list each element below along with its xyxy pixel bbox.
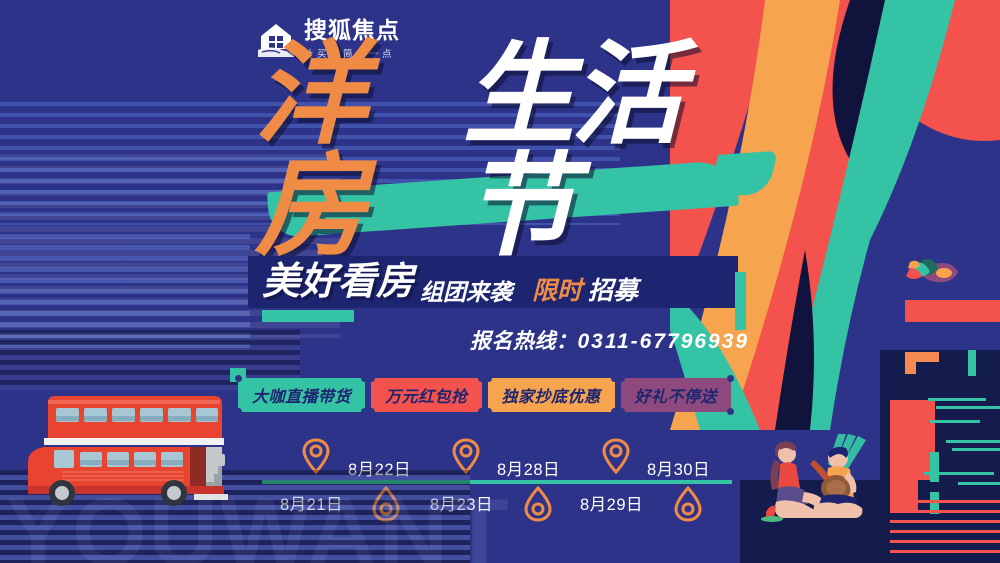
deco-teal-line-3 [930, 420, 980, 423]
bird-icon [900, 250, 962, 292]
hotline-text: 报名热线：0311-67796939 [470, 325, 749, 355]
deco-teal-tick-2 [930, 452, 939, 482]
page-title: 洋房 生活节 [255, 78, 775, 223]
deco-teal-line-5 [952, 448, 1000, 451]
deco-coral-block-tall [890, 400, 918, 510]
feature-tag[interactable]: 好礼不停送 [621, 378, 732, 412]
subtitle-orange: 限时 [532, 279, 582, 308]
feature-tag-label: 万元红包抢 [385, 383, 468, 407]
droplet-pin-icon [674, 486, 702, 522]
timeline-date-top: 8月30日 [647, 456, 710, 480]
timeline-date-bottom: 8月29日 [580, 491, 643, 515]
feature-tag[interactable]: 独家抄底优惠 [488, 378, 615, 412]
title-part-orange: 洋房 [255, 39, 463, 263]
deco-coral-line-2 [890, 510, 1000, 513]
deco-teal-line-2 [936, 406, 1000, 409]
subtitle-mid: 组团来袭 [420, 281, 512, 308]
bg-stripes-midband [0, 228, 250, 348]
deco-coral-line-5 [890, 540, 1000, 543]
deco-coral-line-4 [890, 530, 1000, 533]
seated-people-icon [752, 432, 887, 542]
deco-teal-line-4 [946, 440, 1000, 443]
deco-teal-line-7 [958, 482, 1000, 485]
feature-tag[interactable]: 万元红包抢 [371, 378, 482, 412]
deco-coral-line-3 [890, 520, 1000, 523]
hotline-label: 报名热线： [470, 330, 578, 353]
feature-tag-row: 大咖直播带货 万元红包抢 独家抄底优惠 好礼不停送 [238, 378, 737, 412]
deco-teal-line-6 [924, 472, 994, 475]
timeline-date-top: 8月22日 [348, 456, 411, 480]
subtitle-teal-rightbar [735, 272, 746, 330]
feature-tag-label: 大咖直播带货 [252, 383, 351, 407]
deco-coral-line-1 [890, 500, 1000, 503]
location-pin-icon [302, 438, 330, 474]
subtitle-white: 招募 [588, 279, 638, 308]
deco-orange-tee-v [905, 352, 916, 374]
deco-coral-line-6 [890, 550, 1000, 553]
promo-poster: 搜狐焦点 让买房简单一点 洋房 生活节 美好看房 组团来袭 限时 招募 报名热线… [0, 0, 1000, 563]
location-pin-icon [602, 438, 630, 474]
feature-tag[interactable]: 大咖直播带货 [238, 378, 365, 412]
timeline-date-top: 8月28日 [497, 456, 560, 480]
subtitle-big: 美好看房 [262, 263, 414, 301]
deco-teal-tick-1 [968, 350, 976, 376]
droplet-pin-icon [524, 486, 552, 522]
double-decker-bus-icon [18, 392, 248, 522]
subtitle-teal-underbar [262, 310, 354, 322]
location-pin-icon [452, 438, 480, 474]
feature-tag-label: 独家抄底优惠 [502, 383, 601, 407]
subtitle-plate: 美好看房 组团来袭 限时 招募 [248, 256, 738, 308]
deco-teal-line-1 [928, 398, 986, 401]
hotline-number: 0311-67796939 [578, 330, 750, 353]
feature-tag-label: 好礼不停送 [635, 383, 718, 407]
deco-coral-bar [905, 300, 1000, 322]
title-part-white: 生活节 [463, 39, 775, 263]
